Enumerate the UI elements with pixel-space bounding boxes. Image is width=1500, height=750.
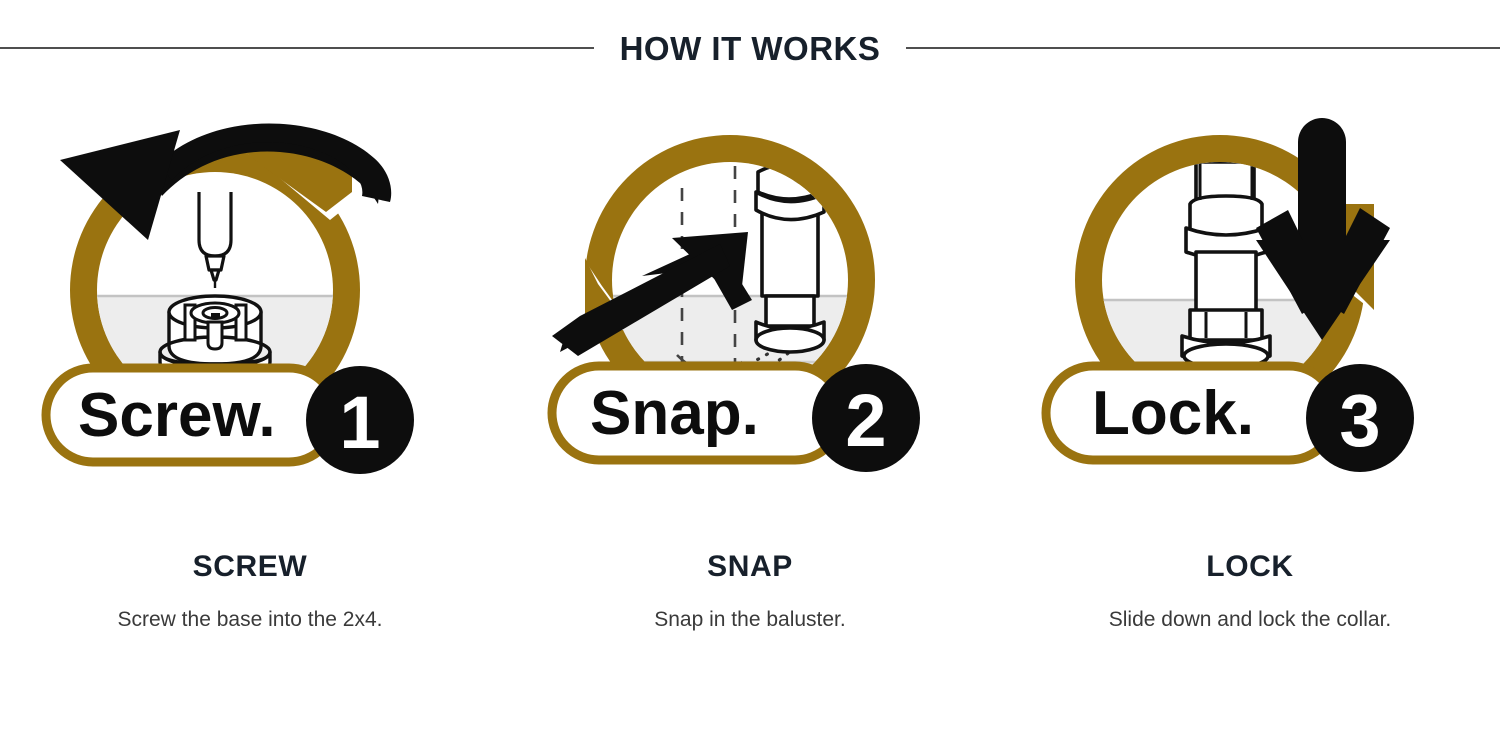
step-snap: Snap. 2 SNAP Snap in the baluster. bbox=[500, 100, 1000, 632]
step-title: SNAP bbox=[707, 550, 793, 583]
step-description: Snap in the baluster. bbox=[654, 607, 845, 632]
header-rule-right bbox=[906, 47, 1500, 49]
page-header: HOW IT WORKS bbox=[0, 22, 1500, 74]
pill-label-text: Snap. bbox=[590, 379, 759, 448]
pill-label-text: Screw. bbox=[78, 381, 276, 450]
step-description: Screw the base into the 2x4. bbox=[118, 607, 383, 632]
steps-row: Screw. 1 SCREW Screw the base into the 2… bbox=[0, 100, 1500, 740]
step-screw: Screw. 1 SCREW Screw the base into the 2… bbox=[0, 100, 500, 632]
step-description: Slide down and lock the collar. bbox=[1109, 607, 1392, 632]
step-badge-snap: Snap. 2 bbox=[530, 100, 970, 530]
step-title: SCREW bbox=[193, 550, 308, 583]
pill-label-text: Lock. bbox=[1092, 379, 1254, 448]
step-badge-lock: Lock. 3 bbox=[1030, 100, 1470, 530]
step-number-text: 1 bbox=[339, 381, 380, 464]
header-rule-left bbox=[0, 47, 594, 49]
step-number-text: 2 bbox=[845, 379, 886, 462]
step-lock: Lock. 3 LOCK Slide down and lock the col… bbox=[1000, 100, 1500, 632]
step-title: LOCK bbox=[1206, 550, 1293, 583]
page-title: HOW IT WORKS bbox=[594, 32, 907, 65]
step-number-text: 3 bbox=[1339, 379, 1380, 462]
step-badge-screw: Screw. 1 bbox=[30, 100, 470, 530]
